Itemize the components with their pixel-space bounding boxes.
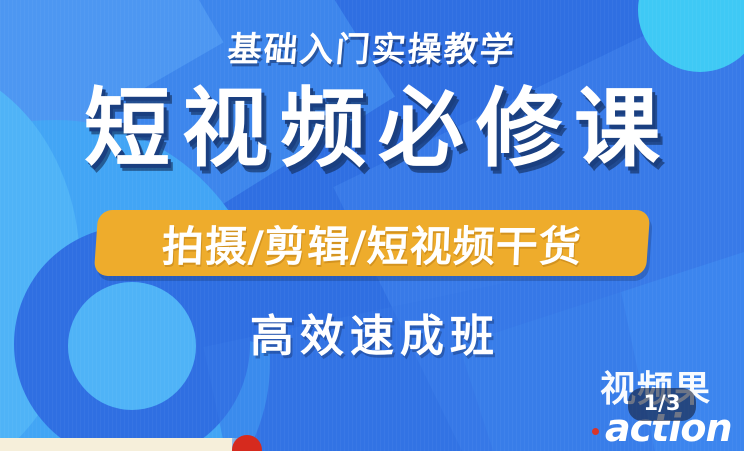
highlight-pill: 拍摄/剪辑/短视频干货	[94, 210, 651, 276]
eyebrow-text: 基础入门实操教学	[0, 22, 744, 71]
page-title: 短视频必修课	[0, 86, 744, 172]
tagline-text: 高效速成班	[0, 300, 744, 364]
page-indicator-badge: 1/3	[628, 388, 696, 421]
highlight-pill-label: 拍摄/剪辑/短视频干货	[95, 210, 649, 276]
promo-banner-image: 基础入门实操教学 短视频必修课 拍摄/剪辑/短视频干货 高效速成班 视频果 ac…	[0, 0, 744, 451]
red-dot-icon	[592, 428, 599, 435]
